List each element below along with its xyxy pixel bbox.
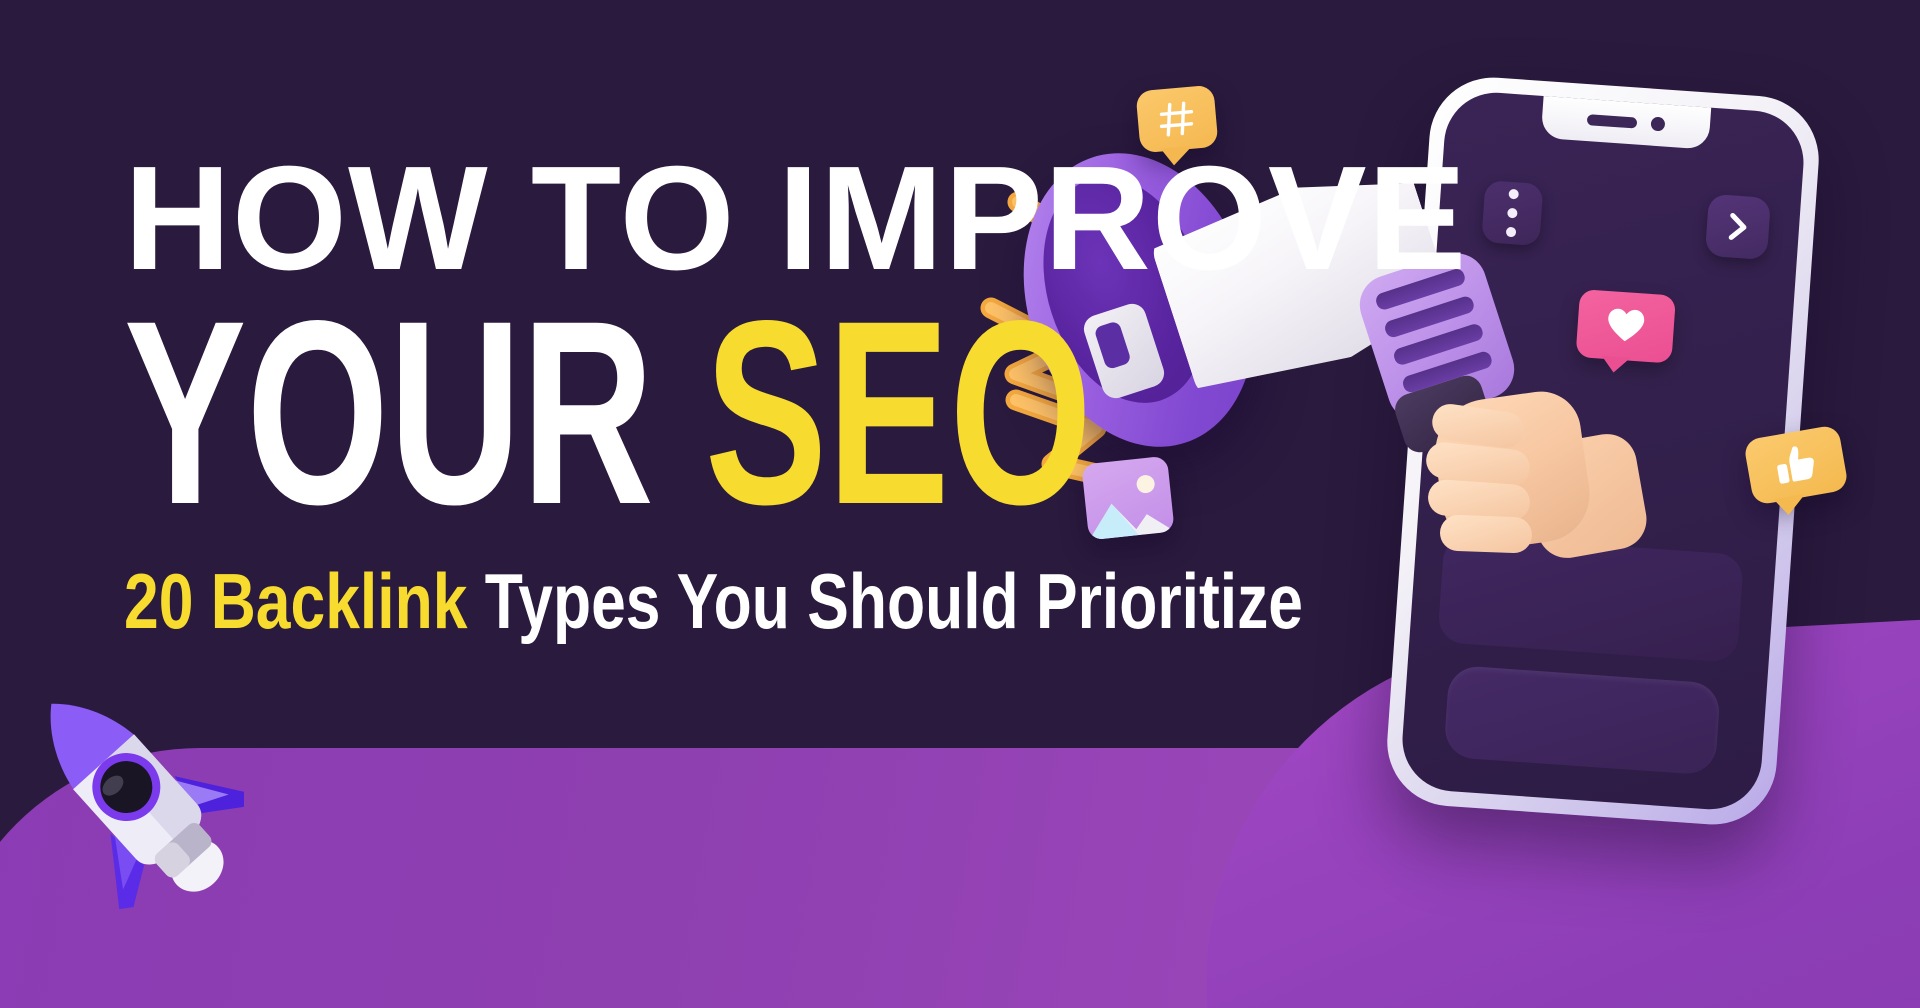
headline-word-seo: SEO — [705, 266, 1092, 559]
subtitle-rest: Types You Should Prioritize — [485, 557, 1303, 645]
chevron-right-button[interactable] — [1705, 194, 1771, 260]
subtitle-accent: 20 Backlink — [124, 557, 467, 645]
subtitle-line: 20 Backlink Types You Should Prioritize — [124, 562, 972, 640]
rocket-icon — [14, 660, 244, 920]
hashtag-icon — [1155, 97, 1198, 140]
headline-line-2: YOUR SEO — [124, 298, 866, 529]
thumbs-up-icon — [1771, 441, 1821, 488]
phone-speaker — [1587, 114, 1638, 128]
hand-finger — [1439, 514, 1532, 553]
hand-grip-icon — [1392, 352, 1592, 552]
headline-block: HOW TO IMPROVE YOUR SEO 20 Backlink Type… — [124, 150, 1184, 640]
chevron-right-icon — [1724, 211, 1752, 243]
phone-card-lower — [1443, 665, 1721, 776]
phone-camera — [1650, 117, 1665, 132]
seo-hero-banner: HOW TO IMPROVE YOUR SEO 20 Backlink Type… — [0, 0, 1920, 1008]
headline-word-your: YOUR — [124, 266, 654, 559]
